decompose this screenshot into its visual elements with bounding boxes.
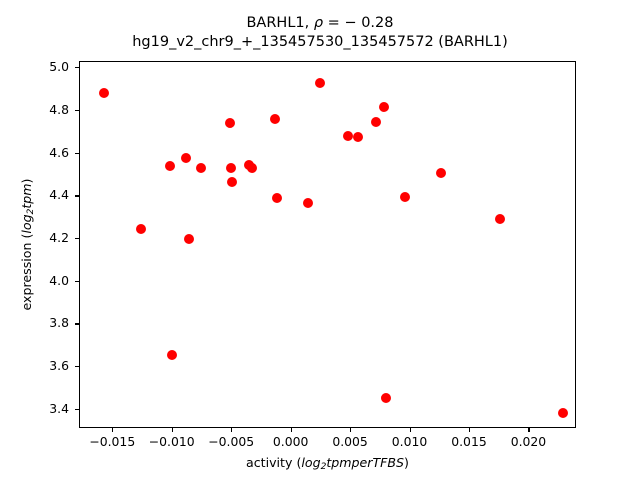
x-tick-mark <box>410 428 411 432</box>
data-point <box>558 408 568 418</box>
y-tick-label: 4.8 <box>0 102 69 117</box>
data-point <box>353 132 363 142</box>
data-point <box>165 161 175 171</box>
scatter-plot-figure: BARHL1, ρ = − 0.28 hg19_v2_chr9_+_135457… <box>0 0 640 480</box>
data-point <box>400 192 410 202</box>
data-point <box>343 131 353 141</box>
y-tick-mark <box>75 110 79 111</box>
x-tick-label: 0.020 <box>488 434 568 449</box>
y-tick-mark <box>75 409 79 410</box>
y-tick-label: 4.6 <box>0 145 69 160</box>
x-tick-mark <box>291 428 292 432</box>
y-tick-label: 4.4 <box>0 187 69 202</box>
data-point <box>167 350 177 360</box>
y-tick-mark <box>75 366 79 367</box>
data-point <box>226 163 236 173</box>
y-tick-label: 5.0 <box>0 59 69 74</box>
y-tick-label: 4.0 <box>0 273 69 288</box>
y-tick-mark <box>75 281 79 282</box>
data-point <box>136 224 146 234</box>
data-point <box>436 168 446 178</box>
data-point <box>227 177 237 187</box>
data-point <box>272 193 282 203</box>
y-tick-label: 3.8 <box>0 315 69 330</box>
x-tick-mark <box>231 428 232 432</box>
y-tick-label: 3.6 <box>0 358 69 373</box>
x-tick-mark <box>112 428 113 432</box>
data-point <box>270 114 280 124</box>
plot-area <box>79 61 576 428</box>
data-point <box>99 88 109 98</box>
x-tick-mark <box>172 428 173 432</box>
y-tick-label: 3.4 <box>0 401 69 416</box>
data-point <box>371 117 381 127</box>
y-tick-mark <box>75 195 79 196</box>
y-tick-mark <box>75 238 79 239</box>
y-tick-mark <box>75 67 79 68</box>
data-point <box>184 234 194 244</box>
data-point <box>495 214 505 224</box>
chart-title: BARHL1, ρ = − 0.28 hg19_v2_chr9_+_135457… <box>0 14 640 52</box>
data-point <box>247 163 257 173</box>
data-point <box>181 153 191 163</box>
chart-title-line1: BARHL1, ρ = − 0.28 <box>0 14 640 33</box>
x-tick-mark <box>528 428 529 432</box>
y-tick-mark <box>75 323 79 324</box>
x-tick-mark <box>350 428 351 432</box>
x-tick-mark <box>469 428 470 432</box>
data-point <box>303 198 313 208</box>
data-point <box>381 393 391 403</box>
data-point <box>315 78 325 88</box>
data-point <box>379 102 389 112</box>
data-point <box>196 163 206 173</box>
x-axis-label: activity (log2tpmperTFBS) <box>79 455 576 472</box>
y-tick-label: 4.2 <box>0 230 69 245</box>
chart-title-line2: hg19_v2_chr9_+_135457530_135457572 (BARH… <box>0 33 640 52</box>
data-point <box>225 118 235 128</box>
y-tick-mark <box>75 153 79 154</box>
